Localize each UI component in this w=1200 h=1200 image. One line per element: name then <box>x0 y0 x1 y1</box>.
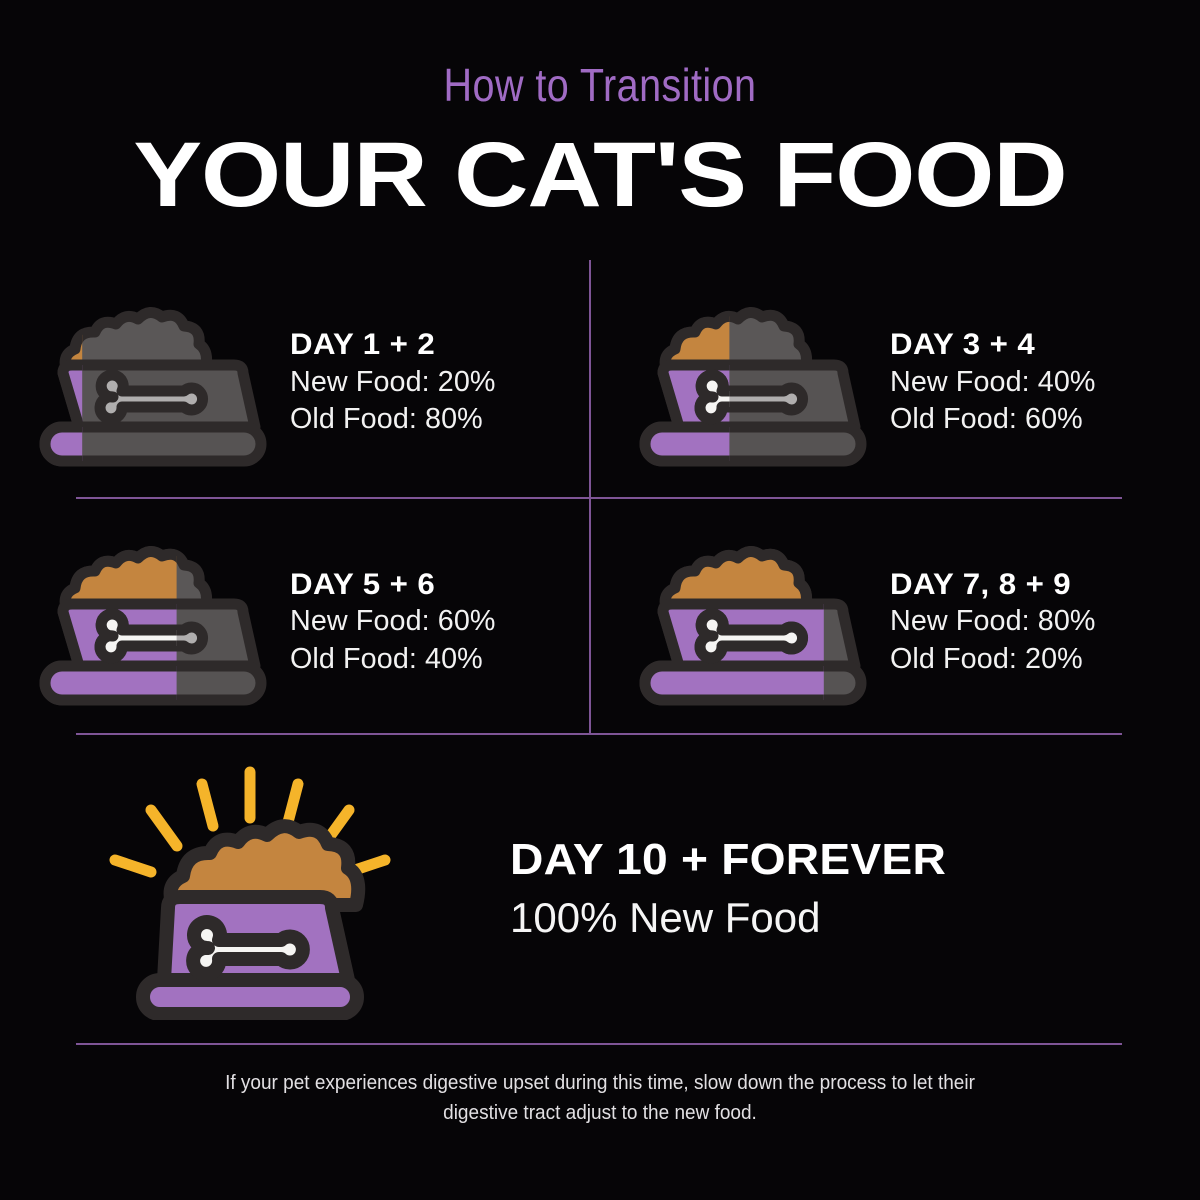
page-title: YOUR CAT'S FOOD <box>0 126 1200 225</box>
final-food-label: 100% New Food <box>510 891 1200 946</box>
step-text-day-1-2: DAY 1 + 2 New Food: 20% Old Food: 80% <box>284 326 600 439</box>
step-text-day-5-6: DAY 5 + 6 New Food: 60% Old Food: 40% <box>284 566 600 679</box>
step-day-label: DAY 5 + 6 <box>290 566 612 604</box>
final-step-text: DAY 10 + FOREVER 100% New Food <box>500 834 1200 945</box>
pet-food-bowl-icon <box>22 293 284 473</box>
step-text-day-7-8-9: DAY 7, 8 + 9 New Food: 80% Old Food: 20% <box>884 566 1200 679</box>
pet-food-bowl-icon <box>22 532 284 712</box>
final-day-label: DAY 10 + FOREVER <box>510 834 1200 887</box>
step-new-food: New Food: 60% <box>290 603 597 641</box>
step-card-day-7-8-9: DAY 7, 8 + 9 New Food: 80% Old Food: 20% <box>600 504 1200 740</box>
step-card-day-1-2: DAY 1 + 2 New Food: 20% Old Food: 80% <box>0 268 600 497</box>
step-new-food: New Food: 20% <box>290 364 597 402</box>
step-old-food: Old Food: 20% <box>890 641 1197 679</box>
footer-line-1: If your pet experiences digestive upset … <box>30 1068 1170 1098</box>
page-subtitle: How to Transition <box>84 62 1116 108</box>
step-new-food: New Food: 80% <box>890 603 1197 641</box>
steps-row-1: DAY 1 + 2 New Food: 20% Old Food: 80% <box>0 268 1200 497</box>
step-day-label: DAY 1 + 2 <box>290 326 612 364</box>
step-old-food: Old Food: 40% <box>290 641 597 679</box>
transition-steps-grid: DAY 1 + 2 New Food: 20% Old Food: 80% <box>0 268 1200 740</box>
final-step-card: DAY 10 + FOREVER 100% New Food <box>0 760 1200 1020</box>
footer-divider <box>76 1043 1122 1045</box>
step-old-food: Old Food: 60% <box>890 401 1197 439</box>
step-old-food: Old Food: 80% <box>290 401 597 439</box>
step-card-day-5-6: DAY 5 + 6 New Food: 60% Old Food: 40% <box>0 504 600 740</box>
page-header: How to Transition YOUR CAT'S FOOD <box>0 0 1200 225</box>
steps-row-2: DAY 5 + 6 New Food: 60% Old Food: 40% <box>0 504 1200 740</box>
step-day-label: DAY 3 + 4 <box>890 326 1200 364</box>
step-new-food: New Food: 40% <box>890 364 1197 402</box>
footer-note: If your pet experiences digestive upset … <box>30 1068 1170 1128</box>
step-card-day-3-4: DAY 3 + 4 New Food: 40% Old Food: 60% <box>600 268 1200 497</box>
pet-food-bowl-shining-icon <box>0 760 500 1020</box>
footer-line-2: digestive tract adjust to the new food. <box>30 1098 1170 1128</box>
step-text-day-3-4: DAY 3 + 4 New Food: 40% Old Food: 60% <box>884 326 1200 439</box>
pet-food-bowl-icon <box>622 293 884 473</box>
step-day-label: DAY 7, 8 + 9 <box>890 566 1200 604</box>
pet-food-bowl-icon <box>622 532 884 712</box>
